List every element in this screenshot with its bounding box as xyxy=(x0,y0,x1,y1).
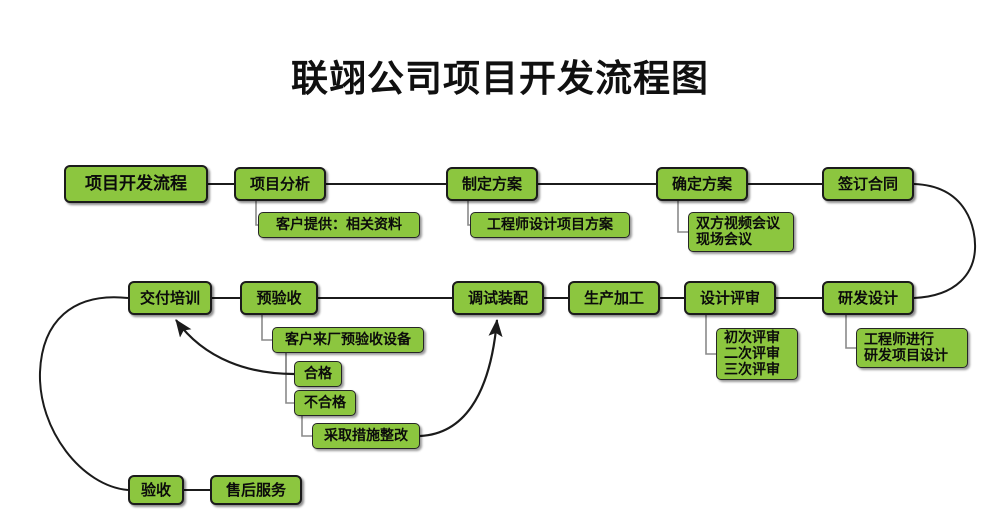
node-design-review[interactable]: 设计评审 xyxy=(684,281,776,315)
node-debug-assembly[interactable]: 调试装配 xyxy=(452,281,544,315)
note-review-rounds[interactable]: 初次评审 二次评审 三次评审 xyxy=(716,328,798,380)
wire-n10-n10s xyxy=(262,315,272,340)
node-qualified[interactable]: 合格 xyxy=(294,361,342,387)
node-project-analysis[interactable]: 项目分析 xyxy=(234,167,326,201)
note-engineer-designs-plan[interactable]: 工程师设计项目方案 xyxy=(470,212,630,238)
node-delivery-training[interactable]: 交付培训 xyxy=(128,281,212,315)
node-sign-contract[interactable]: 签订合同 xyxy=(822,167,914,201)
node-confirm-plan[interactable]: 确定方案 xyxy=(656,167,748,201)
node-unqualified[interactable]: 不合格 xyxy=(294,390,356,416)
note-engineer-rnd-project-design[interactable]: 工程师进行 研发项目设计 xyxy=(856,328,968,368)
page-title: 联翊公司项目开发流程图 xyxy=(0,48,1000,102)
node-take-corrective-action[interactable]: 采取措施整改 xyxy=(312,423,420,449)
wire-n13-n9-arrow xyxy=(420,320,497,436)
wire-n4-n4s xyxy=(678,201,688,232)
wire-n5-n6-wrap xyxy=(914,184,975,298)
flowchart-canvas: 联翊公司项目开发流程图 xyxy=(0,0,1000,532)
node-project-dev-process[interactable]: 项目开发流程 xyxy=(64,165,208,203)
node-acceptance[interactable]: 验收 xyxy=(128,475,184,505)
node-production-processing[interactable]: 生产加工 xyxy=(568,281,660,315)
node-make-plan[interactable]: 制定方案 xyxy=(446,167,538,201)
note-customer-onsite-pre-acceptance[interactable]: 客户来厂预验收设备 xyxy=(272,327,424,353)
wire-n14-n15-wrap xyxy=(40,297,128,490)
wire-n10s-n11 xyxy=(286,353,294,374)
wire-n6-n6s xyxy=(846,315,856,348)
node-pre-acceptance[interactable]: 预验收 xyxy=(240,281,318,315)
wire-n7-n7s xyxy=(706,315,716,354)
node-after-sales-service[interactable]: 售后服务 xyxy=(210,475,302,505)
note-customer-provides-materials[interactable]: 客户提供：相关资料 xyxy=(258,212,420,238)
node-rnd-design[interactable]: 研发设计 xyxy=(822,281,914,315)
note-video-and-onsite-meeting[interactable]: 双方视频会议 现场会议 xyxy=(688,212,794,252)
wire-n10s-n12 xyxy=(286,353,294,403)
wire-n12-n13 xyxy=(302,416,312,436)
